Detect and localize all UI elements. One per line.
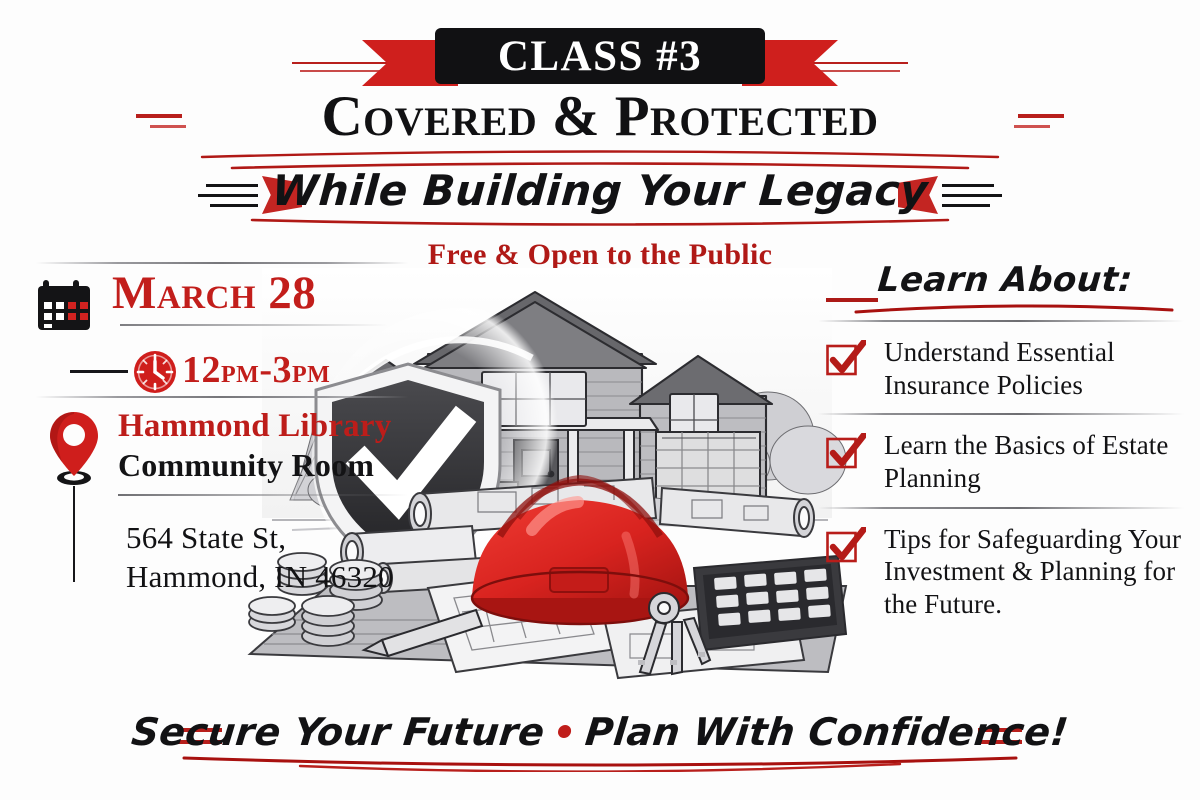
learn-heading-swoosh xyxy=(854,302,1174,314)
title-swoosh xyxy=(200,146,1000,156)
tagline-part-2: Plan With Confidence! xyxy=(583,710,1070,754)
time-end-meridiem: PM xyxy=(292,362,330,388)
event-details-column: March 28 xyxy=(36,262,408,597)
time-start: 12 xyxy=(182,349,221,391)
learn-about-heading: Learn About: xyxy=(876,260,1134,300)
address-line-1: 564 State St, xyxy=(126,518,408,558)
venue-block: Hammond Library Community Room xyxy=(36,408,408,504)
time-row: 12PM-3PM xyxy=(36,344,408,396)
footer-tagline-row: Secure Your FuturePlan With Confidence! xyxy=(0,706,1200,776)
time-end: 3 xyxy=(272,349,292,391)
subtitle-swoosh-bottom xyxy=(250,214,950,224)
calendar-icon xyxy=(38,278,96,332)
clock-icon xyxy=(132,349,178,395)
checkbox-checked-icon xyxy=(826,433,866,471)
list-item: Understand Essential Insurance Policies xyxy=(818,322,1184,414)
map-pin-icon xyxy=(46,410,102,488)
class-ribbon: CLASS #3 xyxy=(0,18,1200,88)
tagline-part-1: Secure Your Future xyxy=(129,710,546,754)
tagline-bullet-dot xyxy=(558,725,572,738)
headline-row: Covered & Protected xyxy=(0,88,1200,152)
learn-item-label: Understand Essential Insurance Policies xyxy=(884,336,1184,402)
venue-divider xyxy=(118,494,408,496)
date-row: March 28 xyxy=(36,264,408,342)
learn-about-heading-row: Learn About: xyxy=(818,262,1184,320)
learn-item-label: Tips for Safeguarding Your Investment & … xyxy=(884,523,1184,622)
event-flyer: CLASS #3 Covered & Protected While Build… xyxy=(0,0,1200,800)
checkbox-checked-icon xyxy=(826,340,866,378)
learn-about-column: Learn About: Understand Essential Insura… xyxy=(818,262,1184,633)
venue-name: Hammond Library xyxy=(118,408,391,444)
venue-room: Community Room xyxy=(118,448,374,483)
event-time: 12PM-3PM xyxy=(182,349,330,393)
page-title: Covered & Protected xyxy=(0,88,1200,145)
event-date: March 28 xyxy=(112,270,316,317)
time-dash xyxy=(70,370,128,373)
list-item: Tips for Safeguarding Your Investment & … xyxy=(818,509,1184,634)
subtitle-row: While Building Your Legacy xyxy=(0,162,1200,226)
time-separator: - xyxy=(259,349,272,391)
footer-tagline: Secure Your FuturePlan With Confidence! xyxy=(0,710,1200,754)
address-line-2: Hammond, IN 46320 xyxy=(126,557,408,597)
checkbox-checked-icon xyxy=(826,527,866,565)
class-number-label: CLASS #3 xyxy=(498,35,702,78)
learn-item-label: Learn the Basics of Estate Planning xyxy=(884,429,1184,495)
list-item: Learn the Basics of Estate Planning xyxy=(818,415,1184,507)
page-subtitle: While Building Your Legacy xyxy=(0,166,1200,215)
details-divider-middle xyxy=(36,396,408,398)
footer-swoosh xyxy=(180,752,1020,772)
ribbon-band: CLASS #3 xyxy=(435,28,765,84)
time-start-meridiem: PM xyxy=(221,362,259,388)
date-underline xyxy=(120,324,388,326)
address-block: 564 State St, Hammond, IN 46320 xyxy=(36,518,408,597)
